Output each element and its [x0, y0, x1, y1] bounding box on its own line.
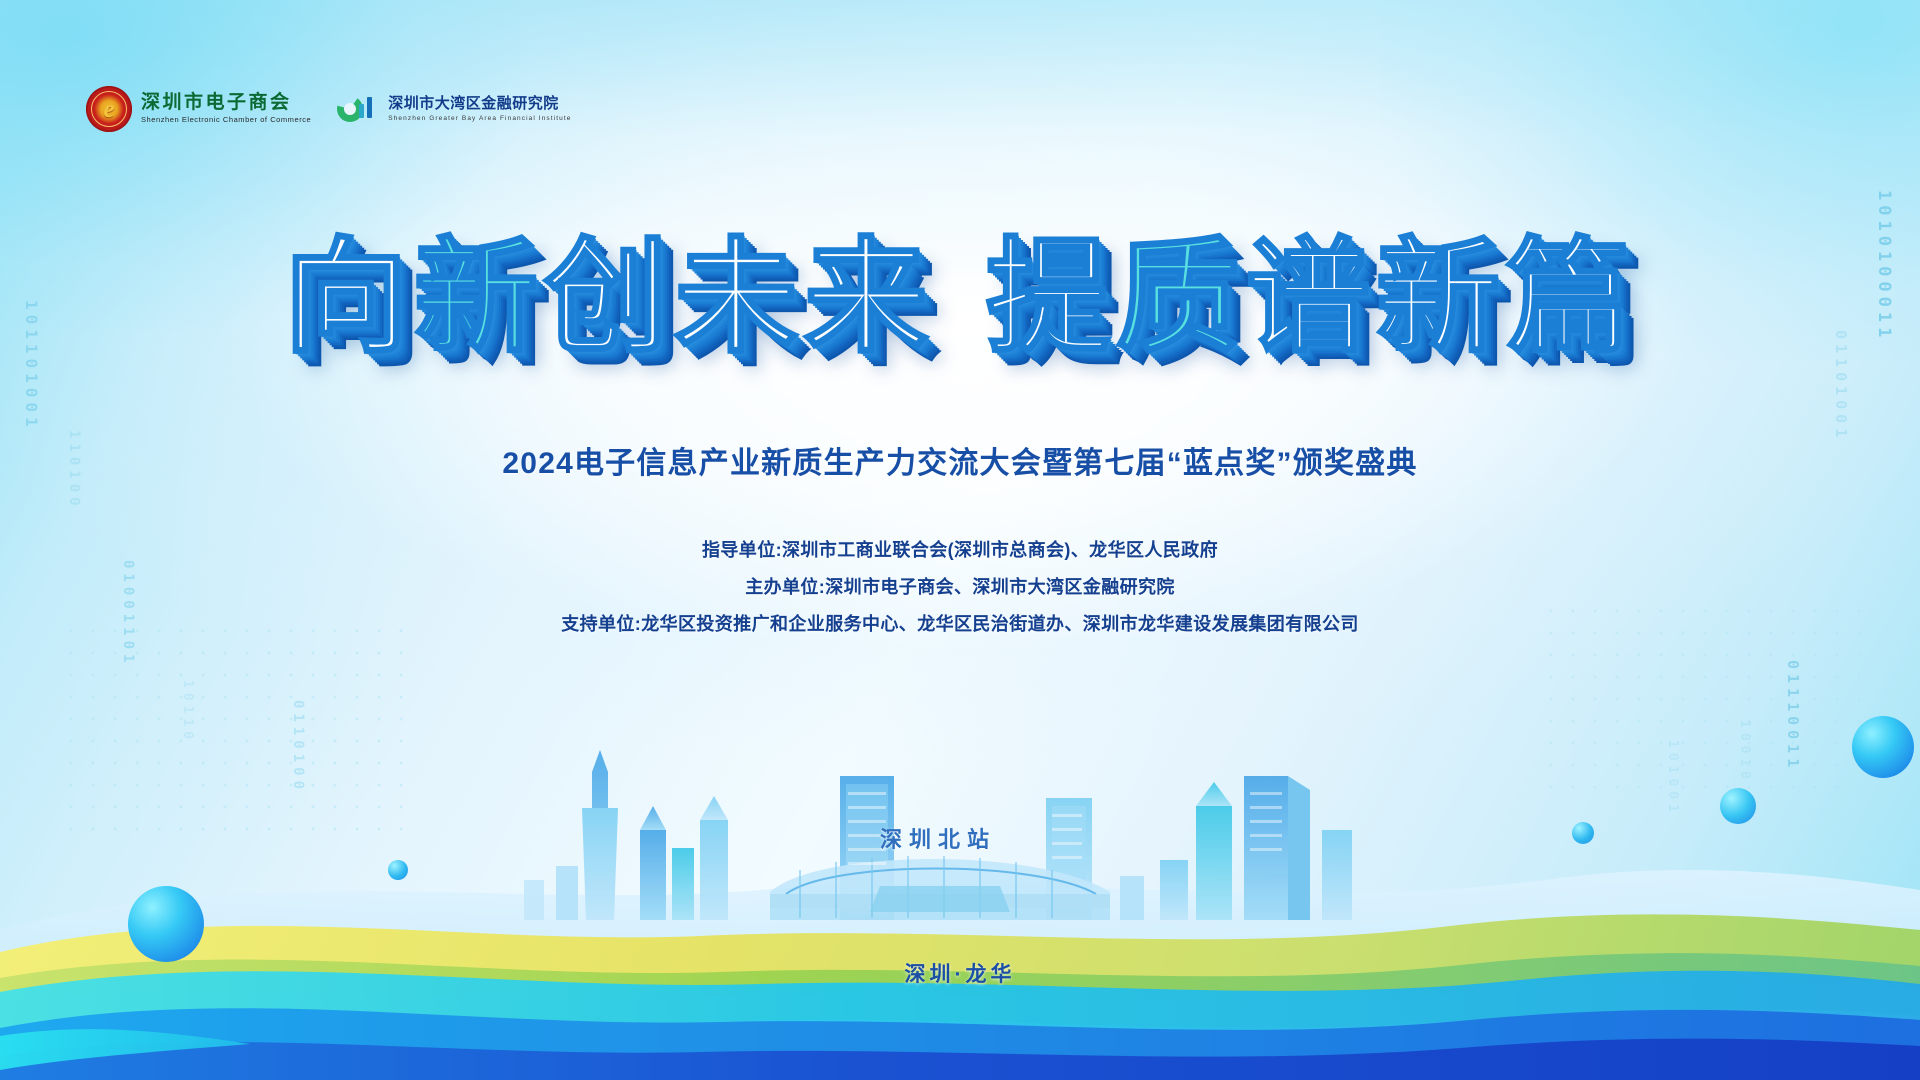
title-char-wei: 未 — [674, 226, 804, 370]
logo-english-name: Shenzhen Greater Bay Area Financial Inst… — [388, 115, 571, 122]
logo-shenzhen-electronic-chamber: e 深圳市电子商会 Shenzhen Electronic Chamber of… — [86, 86, 311, 132]
decor-sphere-large-left — [128, 886, 204, 962]
title-char-xin2: 新 — [1376, 226, 1506, 370]
title-char-xin-accent: 新 — [414, 226, 544, 370]
decor-sphere-small-left — [388, 860, 408, 880]
logo-chinese-name: 深圳市大湾区金融研究院 — [388, 96, 571, 113]
city-skyline-icon — [0, 680, 1920, 940]
gbi-bars-icon — [359, 97, 372, 118]
title-char-xiang: 向 — [284, 226, 414, 370]
organizer-line-support: 支持单位:龙华区投资推广和企业服务中心、龙华区民治街道办、深圳市龙华建设发展集团… — [0, 606, 1920, 643]
decor-sphere-medium-right — [1720, 788, 1756, 824]
seal-glyph: e — [86, 86, 132, 132]
title-char-zhi-accent: 质 — [1116, 226, 1246, 370]
poster-canvas: 1010100011 01101001 01110011 10010 10100… — [0, 0, 1920, 1080]
city-label: 深圳·龙华 — [0, 958, 1920, 988]
organizer-line-guiding: 指导单位:深圳市工商业联合会(深圳市总商会)、龙华区人民政府 — [0, 532, 1920, 569]
title-char-chuang: 创 — [544, 226, 674, 370]
logo-gbi-financial-institute: 深圳市大湾区金融研究院 Shenzhen Greater Bay Area Fi… — [337, 94, 571, 124]
conference-subtitle: 2024电子信息产业新质生产力交流大会暨第七届“蓝点奖”颁奖盛典 — [0, 438, 1920, 482]
title-char-ti: 提 — [986, 226, 1116, 370]
decor-sphere-large-right — [1852, 716, 1914, 778]
decor-sphere-small-right — [1572, 822, 1594, 844]
logo-bar: e 深圳市电子商会 Shenzhen Electronic Chamber of… — [86, 86, 571, 132]
logo-text-group: 深圳市电子商会 Shenzhen Electronic Chamber of C… — [141, 93, 311, 124]
gbi-logo-icon — [337, 94, 379, 124]
title-char-pian: 篇 — [1506, 226, 1636, 370]
title-char-lai: 来 — [804, 226, 934, 370]
organizer-line-host: 主办单位:深圳市电子商会、深圳市大湾区金融研究院 — [0, 569, 1920, 606]
main-title: 向新创未来提质谱新篇 — [284, 236, 1636, 360]
main-title-wrap: 向新创未来提质谱新篇 — [0, 236, 1920, 360]
logo-english-name: Shenzhen Electronic Chamber of Commerce — [141, 116, 311, 124]
logo-chinese-name: 深圳市电子商会 — [141, 93, 311, 114]
red-seal-emblem-icon: e — [86, 86, 132, 132]
organizer-block: 指导单位:深圳市工商业联合会(深圳市总商会)、龙华区人民政府 主办单位:深圳市电… — [0, 532, 1920, 643]
title-char-pu: 谱 — [1246, 226, 1376, 370]
landmark-label-shenzhen-north-station: 深圳北站 — [880, 822, 996, 854]
logo-text-group: 深圳市大湾区金融研究院 Shenzhen Greater Bay Area Fi… — [388, 96, 571, 122]
